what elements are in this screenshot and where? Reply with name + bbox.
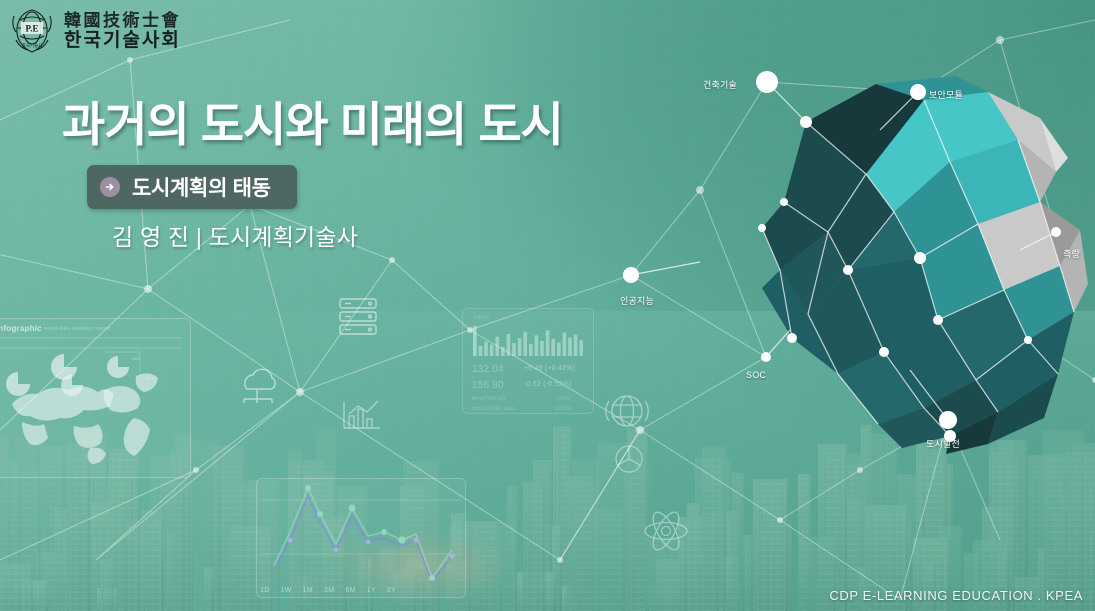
logo-korean-text: 한국기술사회 [64,30,181,51]
bar-chart-icon [338,394,386,434]
slide-canvas: 건축기술보안모듈측량인공지능SOC도시발전 [0,0,1095,611]
svg-text:P.E: P.E [26,24,39,34]
title-block: 과거의 도시와 미래의 도시 도시계획의 태동 김 영 진 | 도시계획기술사 [62,100,563,252]
stock-row-one-value: 7.42% [556,396,570,402]
kpea-logo: P.E 한국기술사 韓國技術士會 한국기술사회 [8,6,181,56]
stock-overlay-panel: INDEX 132.04 +0.49 (+0.42%) 156.80 -0.62… [462,308,594,414]
range-tab-3m[interactable]: 3M [324,587,334,594]
page-title: 과거의 도시와 미래의 도시 [62,100,563,151]
range-tab-2y[interactable]: 2Y [387,587,396,594]
range-tab-1w[interactable]: 1W [281,587,292,594]
globe-wireframe-icon [604,388,650,434]
world-map-graphic: 42% 46% [0,318,191,478]
world-map-panel: Infographic world data statistics report [0,318,191,478]
range-tab-1m[interactable]: 1M [303,587,313,594]
stock-value-primary: 132.04 [472,364,504,375]
node-label-4: SOC [746,370,766,380]
svg-text:46%: 46% [146,376,154,381]
svg-text:42%: 42% [132,356,140,361]
pie-chart-icon [608,438,650,480]
node-label-2: 측량 [1063,247,1080,260]
subtitle-pill: 도시계획의 태동 [87,165,297,209]
stock-bar-label: INDEX [474,315,489,321]
range-tab-1y[interactable]: 1Y [367,587,376,594]
stock-row-two-value: 10.06% [554,406,571,412]
node-label-3: 인공지능 [620,294,654,307]
stock-change-secondary: -0.62 (-0.52%) [524,381,572,388]
author-line: 김 영 진 | 도시계획기술사 [112,218,563,252]
subtitle-text: 도시계획의 태동 [132,172,271,202]
line-chart-graphic [256,478,466,598]
range-tab-1d[interactable]: 1D [260,587,270,594]
stock-row-one-label: Bond Yield 10Y [472,396,506,402]
stock-row-two-label: Index 30 Mkt. Ratio [472,406,515,412]
arrow-right-circle-icon [100,177,120,197]
stock-bar-chart [472,324,586,358]
line-chart-panel: 1D1W1M3M6M1Y2Y [256,478,466,598]
stock-change-primary: +0.49 (+0.42%) [524,365,575,372]
line-chart-range-tabs[interactable]: 1D1W1M3M6M1Y2Y [260,587,396,594]
node-label-5: 도시발전 [926,437,960,450]
logo-hanja-text: 韓國技術士會 [64,12,181,30]
svg-text:한국기술사: 한국기술사 [22,42,44,49]
globe-laurel-emblem-icon: P.E 한국기술사 [8,6,56,56]
atom-icon [640,505,692,557]
server-stack-icon [336,296,382,336]
range-tab-6m[interactable]: 6M [345,587,355,594]
node-label-1: 보안모듈 [929,88,963,101]
cloud-computing-icon [232,363,282,405]
stock-value-secondary: 156.80 [472,380,504,391]
footer-text: CDP E-LEARNING EDUCATION . KPEA [829,588,1083,603]
node-label-0: 건축기술 [703,78,737,91]
